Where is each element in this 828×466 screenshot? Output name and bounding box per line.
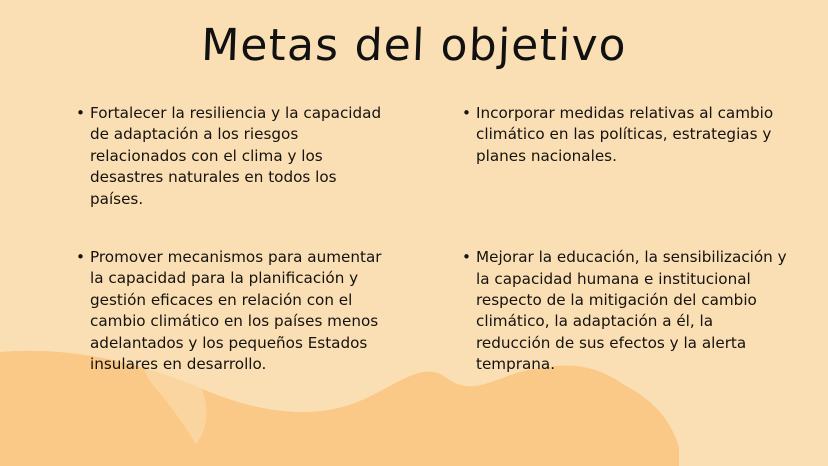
list-item: • Incorporar medidas relativas al cambio… [462,103,788,167]
list-item-text: Fortalecer la resiliencia y la capacidad… [90,103,392,210]
left-column: • Fortalecer la resiliencia y la capacid… [0,103,414,376]
bullet-icon: • [76,247,90,268]
bullet-icon: • [462,247,476,268]
bullet-icon: • [76,103,90,124]
slide: Metas del objetivo • Fortalecer la resil… [0,0,828,466]
list-item-text: Promover mecanismos para aumentar la cap… [90,247,392,375]
list-item: • Promover mecanismos para aumentar la c… [76,247,392,375]
list-item-text: Mejorar la educación, la sensibilización… [476,247,788,375]
list-item: • Mejorar la educación, la sensibilizaci… [462,247,788,375]
bullet-icon: • [462,103,476,124]
list-item: • Fortalecer la resiliencia y la capacid… [76,103,392,210]
list-item-text: Incorporar medidas relativas al cambio c… [476,103,788,167]
right-column: • Incorporar medidas relativas al cambio… [414,103,828,376]
page-title: Metas del objetivo [0,18,828,74]
bullet-columns: • Fortalecer la resiliencia y la capacid… [0,103,828,376]
